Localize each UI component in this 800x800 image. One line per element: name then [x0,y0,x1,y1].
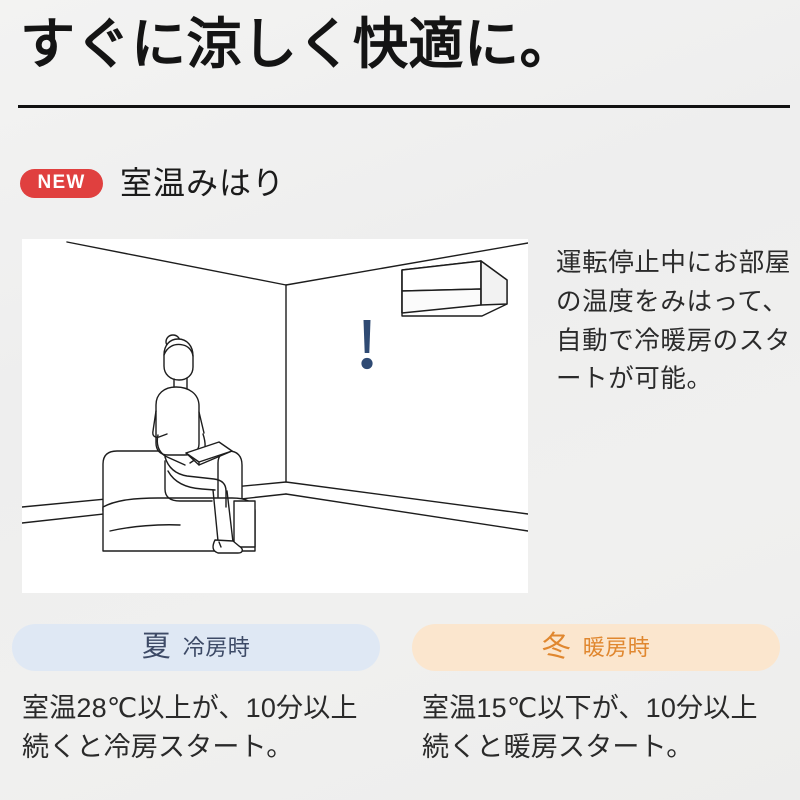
ceiling-left-edge [67,242,286,285]
header-divider [18,105,790,108]
promo-page: すぐに涼しく快適に。 NEW 室温みはり [0,0,800,800]
season-block-winter: 冬 暖房時 室温15℃以下が、10分以上続くと暖房スタート。 [412,624,780,767]
season-block-summer: 夏 冷房時 室温28℃以上が、10分以上続くと冷房スタート。 [12,624,380,767]
feature-title: 室温みはり [120,167,285,199]
season-label-winter: 冬 暖房時 [412,624,780,671]
feature-heading-row: NEW 室温みはり [20,167,285,199]
season-kanji-winter: 冬 [542,633,571,662]
season-kanji-summer: 夏 [142,633,171,662]
air-conditioner-unit [402,261,507,316]
season-label-summer: 夏 冷房時 [12,624,380,671]
page-title: すぐに涼しく快適に。 [20,12,575,77]
room-illustration [22,239,528,593]
status-badge-new: NEW [20,169,103,198]
illustration-panel [22,239,528,593]
season-description-summer: 室温28℃以上が、10分以上続くと冷房スタート。 [12,689,380,767]
season-description-winter: 室温15℃以下が、10分以上続くと暖房スタート。 [412,689,780,767]
season-subtitle-summer: 冷房時 [183,637,251,659]
baseboard-right-bottom [286,494,528,531]
exclamation-icon [361,320,372,369]
season-subtitle-winter: 暖房時 [583,637,651,659]
baseboard-right-top [286,482,528,514]
feature-description: 運転停止中にお部屋の温度をみはって、自動で冷暖房のスタートが可能。 [556,244,800,399]
